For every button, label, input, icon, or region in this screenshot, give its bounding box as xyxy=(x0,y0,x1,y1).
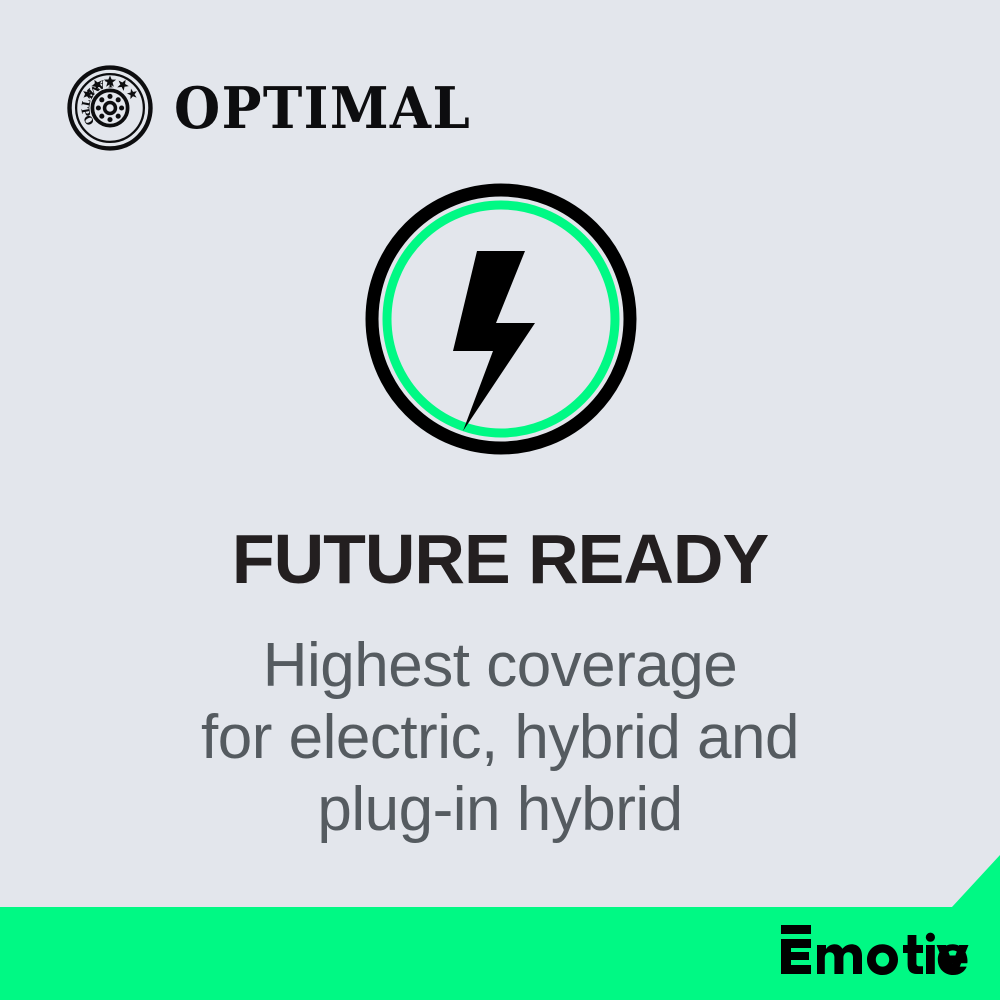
emotive-wordmark-logo xyxy=(779,925,969,977)
body-copy-line-1: Highest coverage xyxy=(0,630,1000,702)
brand-lockup: O P T I M A L xyxy=(66,64,494,152)
body-copy: Highest coverage for electric, hybrid an… xyxy=(0,630,1000,846)
optimal-bearing-badge-icon: O P T I M A L xyxy=(66,64,154,152)
svg-text:L: L xyxy=(105,76,113,89)
page-title: FUTURE READY xyxy=(0,524,1000,594)
body-copy-line-2: for electric, hybrid and xyxy=(0,702,1000,774)
body-copy-line-3: plug-in hybrid xyxy=(0,774,1000,846)
optimal-wordmark: OPTIMAL xyxy=(174,80,471,137)
promo-poster: O P T I M A L xyxy=(0,0,1000,1000)
lightning-bolt-in-circle-icon xyxy=(365,183,637,455)
